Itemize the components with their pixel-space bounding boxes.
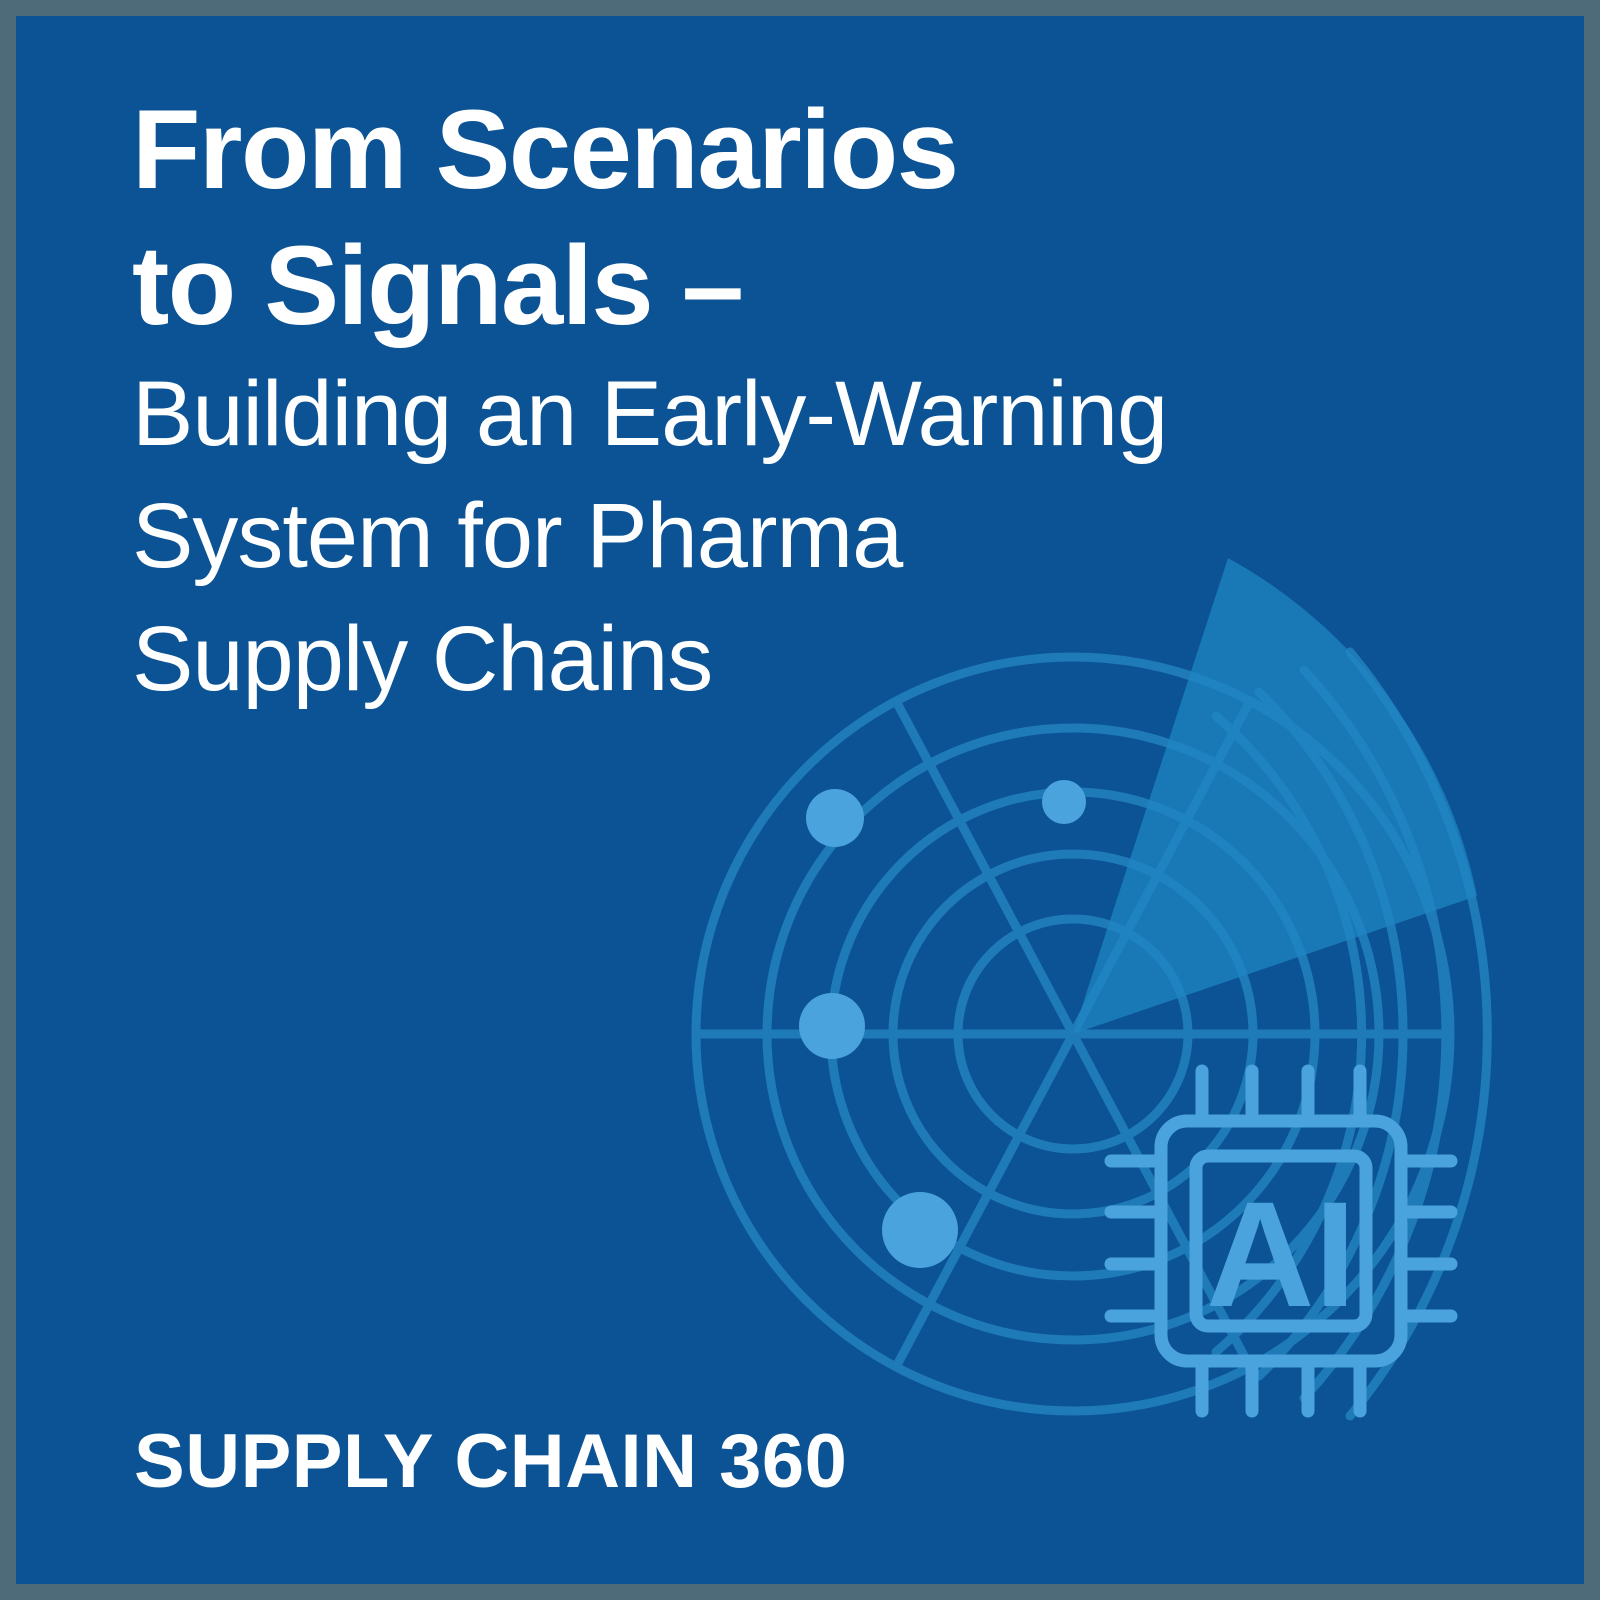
brand-label: SUPPLY CHAIN 360	[134, 1418, 847, 1505]
text-layer: From Scenarios to Signals – Building an …	[16, 16, 1584, 1584]
subtitle-line-2: System for Pharma	[132, 475, 1472, 597]
headline-block: From Scenarios to Signals – Building an …	[132, 82, 1472, 720]
poster-canvas: AI From Scenarios to Signals – Building …	[16, 16, 1584, 1584]
title-line-1: From Scenarios	[132, 82, 1472, 218]
title-line-2: to Signals –	[132, 218, 1472, 354]
subtitle-line-3: Supply Chains	[132, 598, 1472, 720]
subtitle-line-1: Building an Early-Warning	[132, 353, 1472, 475]
